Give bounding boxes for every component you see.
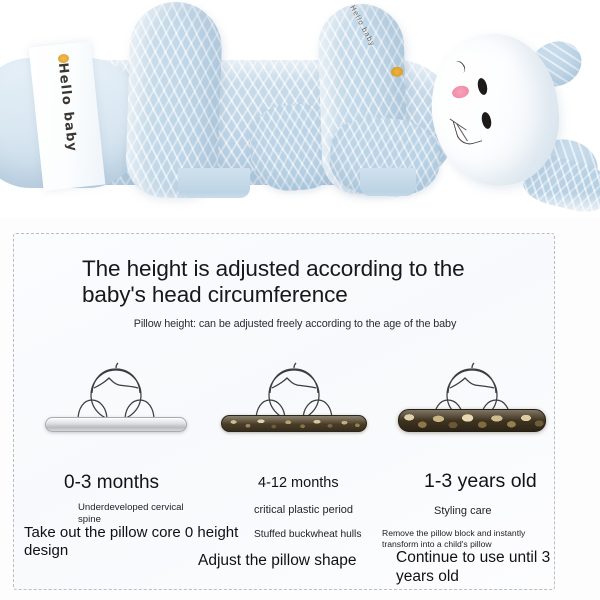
detail-4-12-months: Stuffed buckwheat hulls: [254, 529, 366, 542]
figure-0-3-months: [26, 352, 206, 434]
column-1-3-years: [382, 352, 562, 462]
baby-head-icon: [54, 362, 178, 424]
infographic-root: Hello baby Hello baby The height is adju…: [0, 0, 600, 600]
product-photo: Hello baby Hello baby: [0, 0, 600, 218]
note-0-3-months: Underdeveloped cervical spine: [78, 502, 198, 527]
info-panel: The height is adjusted according to the …: [13, 233, 555, 590]
note-1-3-years: Styling care: [434, 504, 554, 518]
note-4-12-months: critical plastic period: [254, 503, 404, 517]
illustration-columns: [14, 352, 556, 462]
panel-heading: The height is adjusted according to the …: [82, 256, 512, 308]
pillow-tab-left: [178, 168, 250, 198]
age-label-4-12-months: 4-12 months: [258, 475, 339, 491]
detail-1-3-years: Remove the pillow block and instantly tr…: [382, 528, 558, 550]
figure-4-12-months: [204, 352, 384, 434]
pillow-bar-flat: [45, 417, 187, 432]
column-4-12-months: [204, 352, 384, 462]
age-label-1-3-years: 1-3 years old: [424, 470, 537, 493]
age-label-0-3-months: 0-3 months: [64, 472, 159, 494]
pillow-tab-right: [360, 168, 416, 196]
sun-icon: [391, 67, 403, 77]
pillow-bar-buckwheat-thick: [398, 409, 546, 432]
panel-subheading: Pillow height: can be adjusted freely ac…: [70, 318, 520, 330]
highlight-adjust-shape: Adjust the pillow shape: [198, 552, 403, 571]
highlight-continue-use: Continue to use until 3 years old: [396, 549, 566, 586]
pillow-bar-buckwheat-thin: [221, 415, 367, 432]
figure-1-3-years: [382, 352, 562, 434]
embroidery-band-text: Hello baby: [53, 47, 80, 168]
column-0-3-months: [26, 352, 206, 462]
roll-embroidery-text: Hello baby: [341, 0, 385, 62]
